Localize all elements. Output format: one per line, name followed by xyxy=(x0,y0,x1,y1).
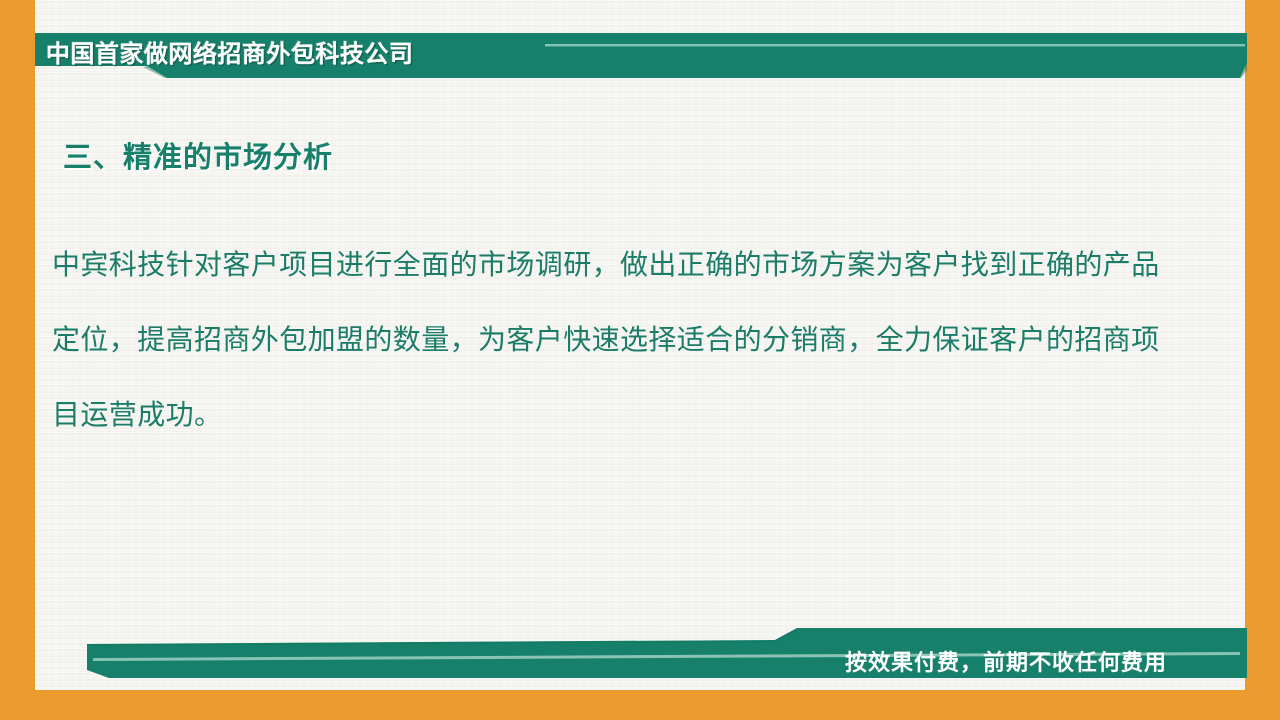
page-title: 三、精准的市场分析 xyxy=(63,134,333,176)
body-paragraph: 中宾科技针对客户项目进行全面的市场调研，做出正确的市场方案为客户找到正确的产品定… xyxy=(52,228,1180,453)
slide-canvas: 中国首家做网络招商外包科技公司 三、精准的市场分析 中宾科技针对客户项目进行全面… xyxy=(0,0,1280,720)
header-title: 中国首家做网络招商外包科技公司 xyxy=(46,38,476,72)
footer-tagline: 按效果付费，前期不收任何费用 xyxy=(845,648,1235,678)
